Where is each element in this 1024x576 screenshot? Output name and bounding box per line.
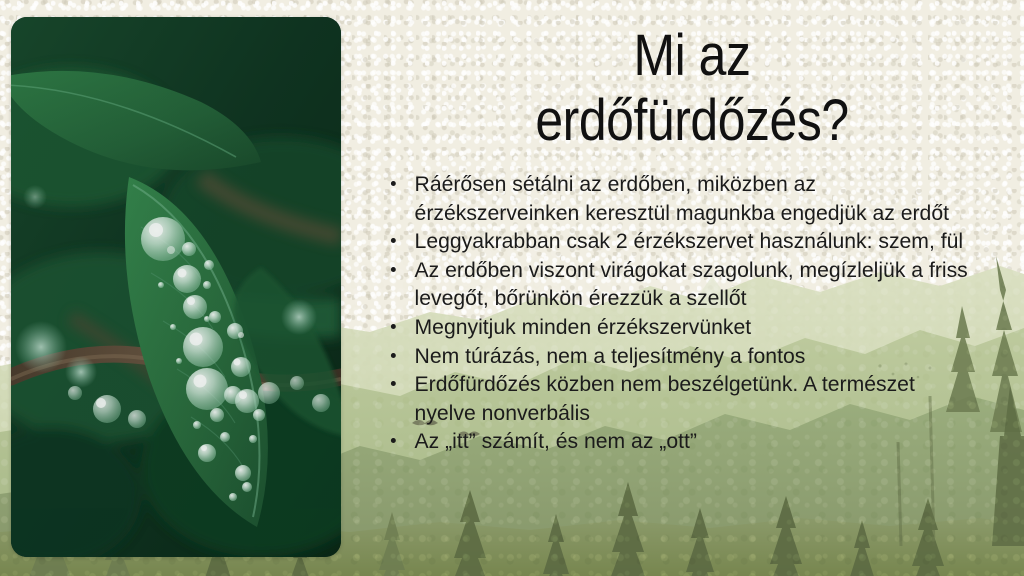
list-item: Megnyitjuk minden érzékszervünket [384,313,975,342]
page-title: Mi az erdőfürdőzés? [420,24,964,154]
list-item: Ráérősen sétálni az erdőben, miközben az… [384,170,975,227]
list-item: Erdőfürdőzés közben nem beszélgetünk. A … [384,370,975,427]
list-item: Az „itt” számít, és nem az „ott” [384,427,975,456]
list-item: Az erdőben viszont virágokat szagolunk, … [384,256,975,313]
presentation-slide: Mi az erdőfürdőzés? Ráérősen sétálni az … [0,0,1024,576]
content-bullet-list: Ráérősen sétálni az erdőben, miközben az… [384,170,984,456]
list-item: Leggyakrabban csak 2 érzékszervet haszná… [384,227,975,256]
leaf-with-water-droplets-photo [11,17,341,557]
list-item: Nem túrázás, nem a teljesítmény a fontos [384,342,975,371]
